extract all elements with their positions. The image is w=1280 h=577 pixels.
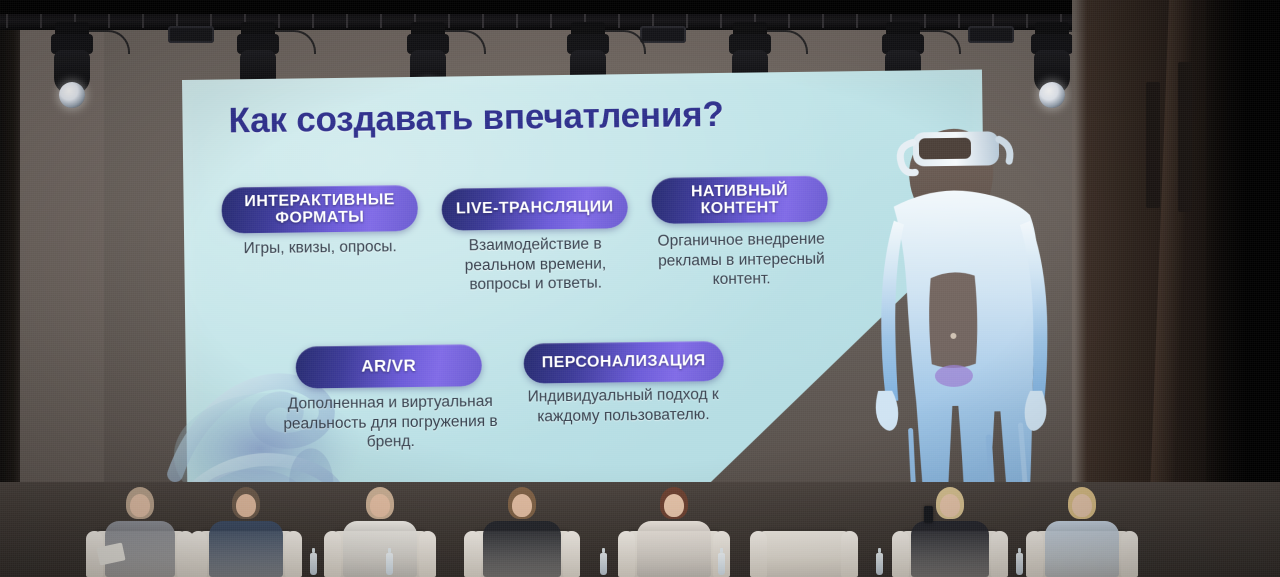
- caption-interactive-formats: Игры, квизы, опросы.: [206, 237, 434, 260]
- slide-title: Как создавать впечатления?: [228, 95, 724, 141]
- panelist-head: [130, 494, 150, 517]
- caption-live-broadcast: Взаимодействие в реальном времени, вопро…: [434, 234, 637, 296]
- panelist-seat: [196, 469, 296, 577]
- water-bottle: [600, 553, 607, 575]
- panelist-seat: [470, 469, 574, 577]
- panelist-person: [196, 489, 296, 577]
- caption-personalization: Индивидуальный подход к каждому пользова…: [504, 385, 742, 427]
- caption-native-content: Органичное внедрение рекламы в интересны…: [632, 229, 851, 291]
- panelist-torso: [637, 521, 711, 577]
- panelist-torso: [911, 521, 989, 577]
- panelist-seat: [624, 469, 724, 577]
- water-bottle: [310, 553, 317, 575]
- panelist-person: [1032, 489, 1132, 577]
- panelist-seat: [92, 469, 188, 577]
- panelist-head: [940, 494, 960, 517]
- panelist-person: [330, 489, 430, 577]
- water-bottle: [1016, 553, 1023, 575]
- panelist-head: [664, 494, 684, 517]
- water-bottle: [876, 553, 883, 575]
- panelist-seat: [756, 469, 852, 577]
- panelist-seat: [330, 469, 430, 577]
- water-bottle: [718, 553, 725, 575]
- panelist-person: [624, 489, 724, 577]
- pill-native-content: НАТИВНЫЙ КОНТЕНТ: [651, 176, 828, 224]
- pill-personalization: ПЕРСОНАЛИЗАЦИЯ: [523, 341, 724, 384]
- panelist-seat: [898, 469, 1002, 577]
- panelist-head: [512, 494, 532, 517]
- panelist-torso: [343, 521, 417, 577]
- stage-photo: Как создавать впечатления? ИНТЕРАКТИВНЫЕ…: [0, 0, 1280, 577]
- panelist-person: [898, 489, 1002, 577]
- smartphone-icon: [924, 506, 933, 523]
- panel-seating: [0, 469, 1280, 577]
- panelist-torso: [483, 521, 561, 577]
- panelist-torso: [1045, 521, 1119, 577]
- panelist-head: [1072, 494, 1092, 517]
- panelist-person: [92, 489, 188, 577]
- panelist-head: [236, 494, 256, 517]
- line-array-speaker: [1146, 82, 1160, 208]
- pill-ar-vr: AR/VR: [295, 344, 482, 388]
- water-bottle: [386, 553, 393, 575]
- caption-ar-vr: Дополненная и виртуальная реальность для…: [270, 392, 511, 454]
- panelist-torso: [209, 521, 283, 577]
- pill-live-broadcast: LIVE-ТРАНСЛЯЦИИ: [441, 186, 628, 230]
- pill-interactive-formats: ИНТЕРАКТИВНЫЕ ФОРМАТЫ: [221, 185, 418, 234]
- panelist-seat: [1032, 469, 1132, 577]
- line-array-speaker-2: [1178, 62, 1192, 212]
- panelist-head: [370, 494, 390, 517]
- armchair: [756, 531, 852, 577]
- panelist-person: [470, 489, 574, 577]
